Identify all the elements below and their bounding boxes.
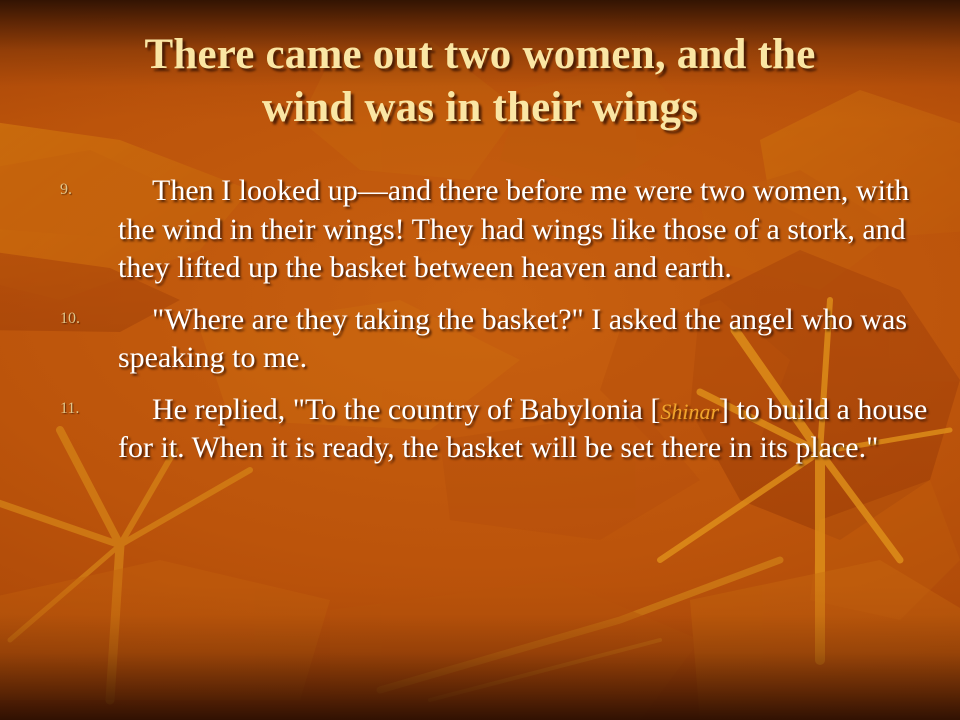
verse-text: "Where are they taking the basket?" I as…	[118, 301, 930, 378]
verse-list: 9. Then I looked up—and there before me …	[50, 172, 930, 468]
title-line-1: There came out two women, and the	[40, 28, 920, 81]
list-item-verse-11: 11. He replied, "To the country of Babyl…	[50, 391, 930, 468]
list-item-verse-10: 10. "Where are they taking the basket?" …	[50, 301, 930, 378]
verse-number: 11.	[60, 401, 108, 417]
verse-body: Then I looked up—and there before me wer…	[118, 174, 909, 284]
slide-title: There came out two women, and the wind w…	[40, 28, 920, 135]
bottom-vignette	[0, 585, 960, 720]
verse-text: Then I looked up—and there before me wer…	[118, 172, 930, 288]
presentation-slide: There came out two women, and the wind w…	[0, 0, 960, 720]
verse-body: "Where are they taking the basket?" I as…	[118, 303, 907, 375]
verse-text: He replied, "To the country of Babylonia…	[118, 391, 930, 468]
list-item-verse-9: 9. Then I looked up—and there before me …	[50, 172, 930, 288]
verse-body-before: He replied, "To the country of Babylonia…	[152, 393, 660, 426]
verse-number: 9.	[60, 182, 108, 198]
title-line-2: wind was in their wings	[40, 81, 920, 134]
verse-gloss-shinar: Shinar	[660, 399, 719, 424]
verse-number: 10.	[60, 311, 108, 327]
